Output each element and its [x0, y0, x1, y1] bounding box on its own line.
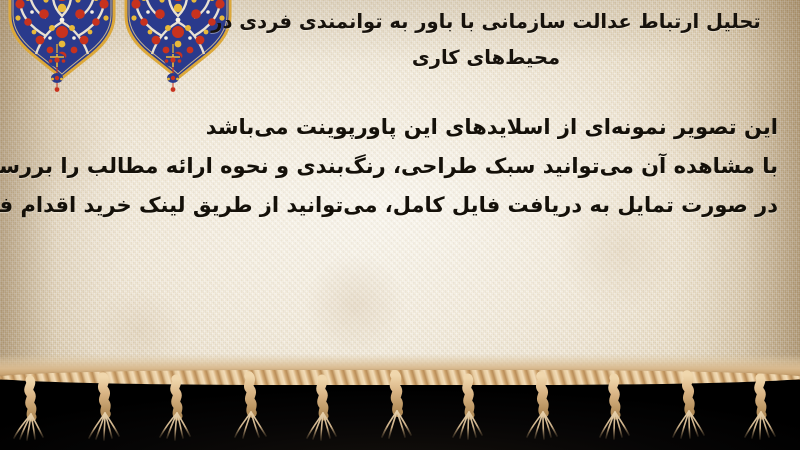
presentation-slide: تحلیل ارتباط عدالت سازمانی با باور به تو… — [0, 0, 800, 450]
slide-title-line-2: محیط‌های کاری — [412, 46, 560, 69]
slide-body-line-2: با مشاهده آن می‌توانید سبک طراحی، رنگ‌بن… — [20, 147, 778, 186]
carpet-footer — [0, 354, 800, 450]
slide-body-line-1: این تصویر نمونه‌ای از اسلایدهای این پاور… — [20, 108, 778, 147]
persian-carpet-fringe-icon — [0, 354, 800, 450]
slide-body: این تصویر نمونه‌ای از اسلایدهای این پاور… — [20, 108, 778, 225]
slide-body-line-3: در صورت تمایل به دریافت فایل کامل، می‌تو… — [20, 186, 778, 225]
slide-title: تحلیل ارتباط عدالت سازمانی با باور به تو… — [206, 4, 766, 76]
slide-title-line-1: تحلیل ارتباط عدالت سازمانی با باور به تو… — [211, 10, 761, 33]
